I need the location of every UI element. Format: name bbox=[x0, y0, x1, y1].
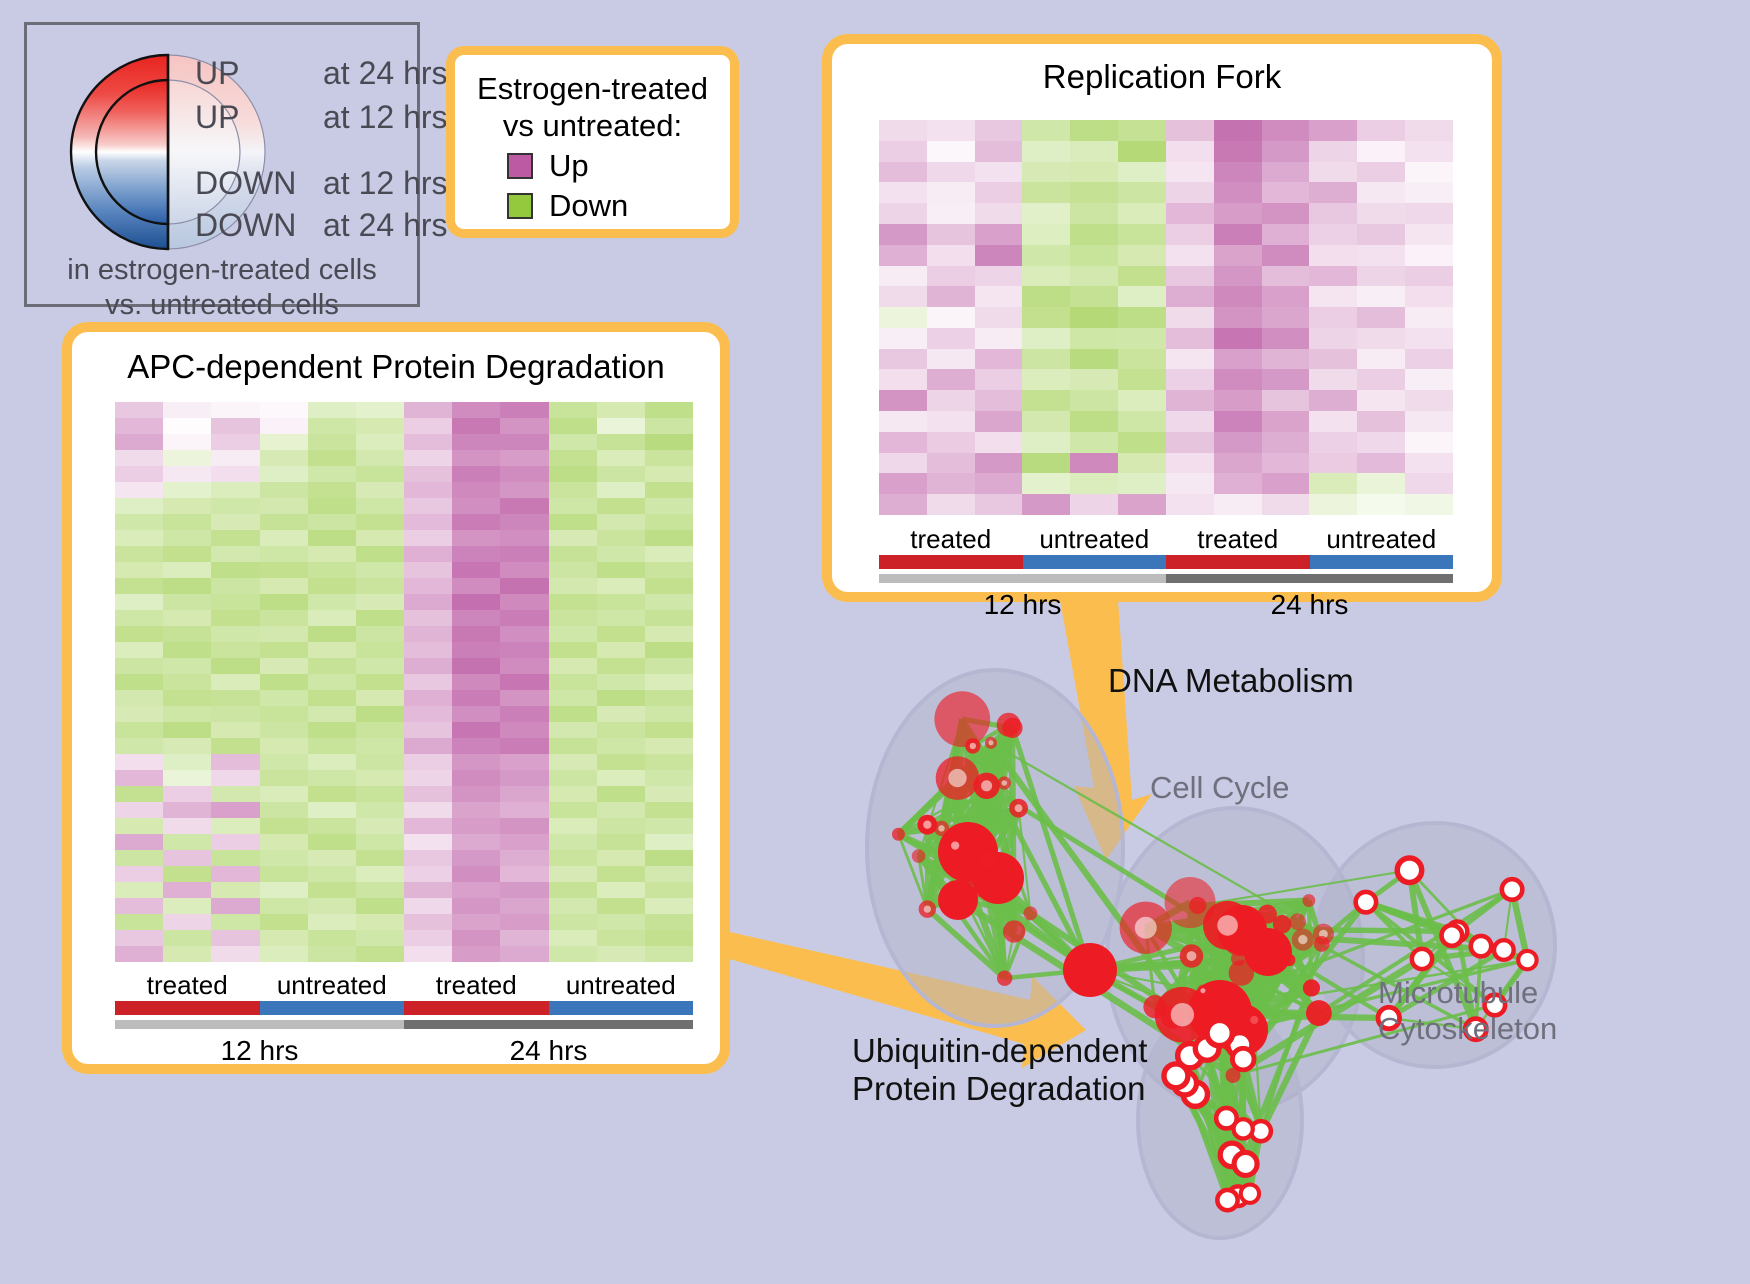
heatmap-cell bbox=[163, 450, 211, 466]
heatmap-cell bbox=[308, 498, 356, 514]
heatmap-cell bbox=[1070, 328, 1118, 349]
network-node-core bbox=[951, 841, 959, 849]
heatmap-cell bbox=[879, 349, 927, 370]
heatmap-cell bbox=[1166, 245, 1214, 266]
heatmap-cell bbox=[260, 610, 308, 626]
heatmap-cell bbox=[115, 658, 163, 674]
heatmap-cell bbox=[260, 930, 308, 946]
network-node bbox=[1314, 936, 1330, 952]
heatmap-cell bbox=[308, 418, 356, 434]
heatmap-cell bbox=[356, 482, 404, 498]
heatmap-cell bbox=[404, 626, 452, 642]
heatmap-cell bbox=[500, 690, 548, 706]
heatmap-cell bbox=[1309, 307, 1357, 328]
heatmap-cell bbox=[500, 770, 548, 786]
heatmap-cell bbox=[1070, 390, 1118, 411]
heatmap-cell bbox=[356, 914, 404, 930]
heatmap-cell bbox=[115, 802, 163, 818]
heatmap-cell bbox=[1357, 182, 1405, 203]
heatmap-cell bbox=[260, 498, 308, 514]
treatment-color-bar bbox=[879, 555, 1453, 569]
heatmap-cell bbox=[927, 307, 975, 328]
heatmap-cell bbox=[452, 898, 500, 914]
heatmap-cell bbox=[1357, 390, 1405, 411]
heatmap-cell bbox=[1405, 390, 1453, 411]
heatmap-cell bbox=[260, 690, 308, 706]
heatmap-cell bbox=[597, 418, 645, 434]
heatmap-cell bbox=[115, 578, 163, 594]
heatmap-cell bbox=[211, 674, 259, 690]
heatmap-cell bbox=[115, 770, 163, 786]
heatmap-cell bbox=[975, 494, 1023, 515]
heatmap-cell bbox=[645, 914, 693, 930]
heatmap-cell bbox=[308, 690, 356, 706]
heatmap-cell bbox=[879, 411, 927, 432]
heatmap-cell bbox=[645, 546, 693, 562]
heatmap-cell bbox=[549, 738, 597, 754]
heatmap-cell bbox=[115, 930, 163, 946]
heatmap-cell bbox=[927, 453, 975, 474]
heatmap-cell bbox=[879, 369, 927, 390]
heatmap-cell bbox=[1022, 182, 1070, 203]
network-node-core bbox=[1239, 1125, 1247, 1133]
heatmap-cell bbox=[975, 141, 1023, 162]
heatmap-cell bbox=[404, 434, 452, 450]
heatmap-cell bbox=[1262, 411, 1310, 432]
heatmap-cell bbox=[452, 450, 500, 466]
heatmap-cell bbox=[500, 914, 548, 930]
heatmap-cell bbox=[356, 754, 404, 770]
heatmap-cell bbox=[1405, 473, 1453, 494]
treatment-label: untreated bbox=[1310, 524, 1454, 555]
heatmap-cell bbox=[549, 626, 597, 642]
time-bar-segment bbox=[115, 1020, 404, 1029]
heatmap-cell bbox=[308, 770, 356, 786]
heatmap-cell bbox=[452, 498, 500, 514]
heatmap-cell bbox=[308, 786, 356, 802]
heatmap-cell bbox=[163, 658, 211, 674]
heatmap-cell bbox=[260, 402, 308, 418]
treatment-label: treated bbox=[1166, 524, 1310, 555]
heatmap-cell bbox=[1118, 390, 1166, 411]
heatmap-cell bbox=[1262, 141, 1310, 162]
heatmap-cell bbox=[879, 473, 927, 494]
heatmap-cell bbox=[500, 530, 548, 546]
heatmap-cell bbox=[260, 834, 308, 850]
heatmap-cell bbox=[549, 818, 597, 834]
heatmap-cell bbox=[500, 882, 548, 898]
heatmap-cell bbox=[1118, 286, 1166, 307]
heatmap-cell bbox=[645, 434, 693, 450]
heatmap-cell bbox=[1118, 494, 1166, 515]
heatmap-cell bbox=[597, 930, 645, 946]
heatmap-cell bbox=[1214, 203, 1262, 224]
heatmap-cell bbox=[500, 898, 548, 914]
heatmap-cell bbox=[163, 930, 211, 946]
heatmap-cell bbox=[1309, 141, 1357, 162]
heatmap-cell bbox=[927, 120, 975, 141]
heatmap-cell bbox=[500, 466, 548, 482]
heatmap-cell bbox=[356, 850, 404, 866]
heatmap-cell bbox=[260, 642, 308, 658]
heatmap-cell bbox=[549, 930, 597, 946]
network-node-core bbox=[948, 769, 966, 787]
network-node-core bbox=[1171, 1003, 1194, 1026]
heatmap-cell bbox=[211, 610, 259, 626]
network-node-core bbox=[1418, 955, 1426, 963]
heatmap-cell bbox=[260, 482, 308, 498]
heatmap-cell bbox=[452, 434, 500, 450]
heatmap-cell bbox=[1022, 453, 1070, 474]
heatmap-cell bbox=[927, 411, 975, 432]
heatmap-cell bbox=[308, 450, 356, 466]
heatmap-cell bbox=[1118, 349, 1166, 370]
heatmap-cell bbox=[308, 930, 356, 946]
heatmap-cell bbox=[1214, 286, 1262, 307]
heatmap-cell bbox=[597, 466, 645, 482]
heatmap-cell bbox=[404, 818, 452, 834]
heatmap-cell bbox=[1118, 432, 1166, 453]
heatmap-cell bbox=[1118, 141, 1166, 162]
panel-replication-fork: Replication Fork treated untreated treat… bbox=[822, 34, 1502, 602]
heatmap-cell bbox=[115, 738, 163, 754]
heatmap-cell bbox=[1357, 203, 1405, 224]
treatment-label: treated bbox=[115, 970, 260, 1001]
heatmap-cell bbox=[115, 434, 163, 450]
heatmap-cell bbox=[308, 434, 356, 450]
heatmap-cell bbox=[404, 722, 452, 738]
heatmap-cell bbox=[211, 818, 259, 834]
heatmap-cell bbox=[356, 898, 404, 914]
heatmap-cell bbox=[260, 738, 308, 754]
heatmap-cell bbox=[404, 946, 452, 962]
heatmap-cell bbox=[404, 546, 452, 562]
heatmap-cell bbox=[404, 498, 452, 514]
heatmap-cell bbox=[163, 866, 211, 882]
heatmap-cell bbox=[404, 770, 452, 786]
heatmap-cell bbox=[1262, 286, 1310, 307]
heatmap-cell bbox=[260, 626, 308, 642]
network-node-core bbox=[981, 780, 992, 791]
heatmap-cell bbox=[1309, 162, 1357, 183]
heatmap-cell bbox=[308, 914, 356, 930]
heatmap-cell bbox=[645, 562, 693, 578]
heatmap-cell bbox=[645, 738, 693, 754]
heatmap-cell bbox=[1357, 494, 1405, 515]
heatmap-cell bbox=[260, 658, 308, 674]
heatmap-cell bbox=[404, 514, 452, 530]
heatmap-cell bbox=[1070, 120, 1118, 141]
heatmap-cell bbox=[1166, 224, 1214, 245]
heatmap-cell bbox=[1022, 120, 1070, 141]
heatmap-cell bbox=[645, 882, 693, 898]
heatmap-cell bbox=[927, 266, 975, 287]
heatmap-cell bbox=[1405, 307, 1453, 328]
heatmap-cell bbox=[1309, 453, 1357, 474]
heatmap-cell bbox=[356, 610, 404, 626]
heatmap-cell bbox=[597, 578, 645, 594]
network-node-core bbox=[1222, 1114, 1230, 1122]
heatmap-cell bbox=[1405, 328, 1453, 349]
heatmap-cell bbox=[452, 722, 500, 738]
heatmap-cell bbox=[115, 690, 163, 706]
heatmap-cell bbox=[163, 626, 211, 642]
heatmap-cell bbox=[211, 898, 259, 914]
heatmap-cell bbox=[597, 562, 645, 578]
heatmap-cell bbox=[500, 626, 548, 642]
heatmap-cell bbox=[404, 482, 452, 498]
heatmap-cell bbox=[163, 946, 211, 962]
heatmap-cell bbox=[927, 182, 975, 203]
heatmap-cell bbox=[1166, 141, 1214, 162]
heatmap-cell bbox=[500, 450, 548, 466]
heatmap-cell bbox=[879, 494, 927, 515]
network-node-core bbox=[1200, 988, 1205, 993]
heatmap-cell bbox=[308, 674, 356, 690]
heatmap-cell bbox=[1070, 494, 1118, 515]
heatmap-cell bbox=[115, 514, 163, 530]
heatmap-cell bbox=[452, 706, 500, 722]
heatmap-cell bbox=[1022, 390, 1070, 411]
network-node-core bbox=[1241, 1159, 1250, 1168]
heatmap-cell bbox=[356, 402, 404, 418]
heatmap-cell bbox=[163, 610, 211, 626]
heatmap-cell bbox=[549, 850, 597, 866]
heatmap-cell bbox=[549, 562, 597, 578]
time-bar-segment bbox=[879, 574, 1166, 583]
heatmap-cell bbox=[356, 930, 404, 946]
network-node-core bbox=[1223, 1196, 1231, 1204]
treatment-label: untreated bbox=[549, 970, 694, 1001]
heatmap-cell bbox=[975, 182, 1023, 203]
heatmap-cell bbox=[308, 738, 356, 754]
heatmap-cell bbox=[260, 450, 308, 466]
heatmap-cell bbox=[308, 466, 356, 482]
heatmap-cell bbox=[500, 946, 548, 962]
heatmap-cell bbox=[1166, 120, 1214, 141]
heatmap-cell bbox=[927, 286, 975, 307]
treatment-label: treated bbox=[879, 524, 1023, 555]
heatmap-cell bbox=[645, 578, 693, 594]
heatmap-cell bbox=[356, 738, 404, 754]
heatmap-cell bbox=[163, 642, 211, 658]
heatmap-cell bbox=[260, 514, 308, 530]
heatmap-cell bbox=[1262, 328, 1310, 349]
heatmap-cell bbox=[356, 802, 404, 818]
heatmap-cell bbox=[260, 914, 308, 930]
heatmap-cell bbox=[549, 530, 597, 546]
heatmap-cell bbox=[211, 786, 259, 802]
network-node bbox=[981, 852, 996, 867]
heatmap-cell bbox=[1357, 432, 1405, 453]
heatmap-cell bbox=[211, 450, 259, 466]
heatmap-cell bbox=[211, 722, 259, 738]
heatmap-cell bbox=[1070, 411, 1118, 432]
heatmap-cell bbox=[404, 450, 452, 466]
heatmap-cell bbox=[260, 530, 308, 546]
heatmap-cell bbox=[1262, 203, 1310, 224]
heatmap-cell bbox=[452, 866, 500, 882]
heatmap-cell bbox=[115, 786, 163, 802]
heatmap-cell bbox=[597, 738, 645, 754]
heatmap-cell bbox=[1262, 473, 1310, 494]
heatmap-cell bbox=[1022, 328, 1070, 349]
heatmap-cell bbox=[1022, 162, 1070, 183]
heatmap-cell bbox=[1070, 453, 1118, 474]
heatmap-cell bbox=[1166, 390, 1214, 411]
heatmap-cell bbox=[404, 882, 452, 898]
heatmap-cell bbox=[163, 882, 211, 898]
heatmap-cell bbox=[1214, 307, 1262, 328]
heatmap-cell bbox=[356, 530, 404, 546]
heatmap-cell bbox=[452, 882, 500, 898]
heatmap-cell bbox=[549, 546, 597, 562]
heatmap-cell bbox=[1118, 182, 1166, 203]
heatmap-cell bbox=[452, 610, 500, 626]
heatmap-cell bbox=[927, 349, 975, 370]
heatmap-cell bbox=[260, 674, 308, 690]
heatmap-cell bbox=[597, 690, 645, 706]
heatmap-cell bbox=[163, 546, 211, 562]
heatmap-cell bbox=[115, 530, 163, 546]
heatmap-cell bbox=[163, 578, 211, 594]
heatmap-cell bbox=[1166, 432, 1214, 453]
pathway-network-diagram: DNA Metabolism Cell Cycle Microtubule Cy… bbox=[790, 600, 1750, 1279]
heatmap-cell bbox=[1309, 494, 1357, 515]
heatmap-cell bbox=[452, 834, 500, 850]
heatmap-cell bbox=[500, 866, 548, 882]
heatmap-cell bbox=[1357, 224, 1405, 245]
network-node-core bbox=[1171, 1071, 1181, 1081]
heatmap-cell bbox=[975, 390, 1023, 411]
time-label: 24 hrs bbox=[404, 1035, 693, 1067]
heatmap-cell bbox=[163, 818, 211, 834]
heatmap-cell bbox=[1166, 286, 1214, 307]
heatmap-cell bbox=[1405, 453, 1453, 474]
heatmap-cell bbox=[404, 898, 452, 914]
heatmap-cell bbox=[500, 850, 548, 866]
heatmap-cell bbox=[879, 224, 927, 245]
heatmap-cell bbox=[356, 882, 404, 898]
heatmap-cell bbox=[1070, 349, 1118, 370]
heatmap-cell bbox=[645, 754, 693, 770]
heatmap-cell bbox=[308, 610, 356, 626]
heatmap-cell bbox=[211, 770, 259, 786]
heatmap-cell bbox=[549, 706, 597, 722]
network-node bbox=[892, 828, 905, 841]
heatmap-cell bbox=[500, 546, 548, 562]
heatmap-cell bbox=[927, 328, 975, 349]
heatmap-cell bbox=[1405, 182, 1453, 203]
network-node-core bbox=[1187, 951, 1197, 961]
heatmap-cell bbox=[452, 482, 500, 498]
heatmap-cell bbox=[163, 802, 211, 818]
network-node-core bbox=[1246, 1190, 1253, 1197]
heatmap-cell bbox=[1357, 369, 1405, 390]
heatmap-cell bbox=[1357, 286, 1405, 307]
heatmap-cell bbox=[163, 898, 211, 914]
heatmap-cell bbox=[597, 834, 645, 850]
heatmap-cell bbox=[549, 898, 597, 914]
heatmap-cell bbox=[1309, 390, 1357, 411]
heatmap-cell bbox=[1309, 286, 1357, 307]
network-node bbox=[1002, 718, 1022, 738]
heatmap-cell bbox=[1166, 473, 1214, 494]
heatmap-cell bbox=[879, 266, 927, 287]
figure-canvas: UPat 24 hrs UPat 12 hrs DOWNat 12 hrs DO… bbox=[0, 0, 1750, 1279]
time-bar-segment bbox=[1166, 574, 1453, 583]
network-node bbox=[1189, 897, 1206, 914]
heatmap-cell bbox=[645, 834, 693, 850]
heatmap-cell bbox=[211, 418, 259, 434]
heatmap-cell bbox=[1309, 328, 1357, 349]
heatmap-cell bbox=[645, 850, 693, 866]
heatmap-cell bbox=[452, 818, 500, 834]
heatmap-cell bbox=[645, 898, 693, 914]
heatmap-cell bbox=[1214, 141, 1262, 162]
heatmap-cell bbox=[1262, 245, 1310, 266]
heatmap-cell bbox=[1405, 432, 1453, 453]
heatmap-cell bbox=[115, 594, 163, 610]
heatmap-cell bbox=[879, 432, 927, 453]
heatmap-cell bbox=[1022, 432, 1070, 453]
heatmap-cell bbox=[597, 626, 645, 642]
heatmap-cell bbox=[597, 642, 645, 658]
heatmap-cell bbox=[1118, 266, 1166, 287]
treatment-labels: treated untreated treated untreated bbox=[879, 524, 1453, 555]
network-node bbox=[1023, 906, 1037, 920]
heatmap-cell bbox=[260, 850, 308, 866]
heatmap-cell bbox=[260, 818, 308, 834]
heatmap-cell bbox=[260, 546, 308, 562]
heatmap-cell bbox=[1405, 411, 1453, 432]
heatmap-cell bbox=[1214, 494, 1262, 515]
network-node bbox=[1306, 1000, 1332, 1026]
heatmap-cell bbox=[163, 482, 211, 498]
heatmap-cell bbox=[549, 834, 597, 850]
heatmap-cell bbox=[1309, 411, 1357, 432]
heatmap-cell bbox=[597, 850, 645, 866]
heatmap-cell bbox=[879, 141, 927, 162]
heatmap-cell bbox=[211, 498, 259, 514]
heatmap-cell bbox=[260, 898, 308, 914]
heatmap-cell bbox=[597, 434, 645, 450]
heatmap-cell bbox=[1262, 369, 1310, 390]
heatmap-cell bbox=[452, 546, 500, 562]
heatmap-cell bbox=[115, 754, 163, 770]
heatmap-cell bbox=[597, 482, 645, 498]
treatment-label: untreated bbox=[1023, 524, 1167, 555]
heatmap-cell bbox=[645, 594, 693, 610]
heatmap-cell bbox=[308, 866, 356, 882]
treatment-label: treated bbox=[404, 970, 549, 1001]
heatmap-cell bbox=[975, 266, 1023, 287]
heatmap-cell bbox=[500, 706, 548, 722]
heatmap-cell bbox=[597, 674, 645, 690]
heatmap-cell bbox=[1357, 411, 1405, 432]
heatmap-cell bbox=[1262, 120, 1310, 141]
heatmap-cell bbox=[452, 514, 500, 530]
heatmap-cell bbox=[1214, 266, 1262, 287]
panel-title-apc: APC-dependent Protein Degradation bbox=[72, 332, 720, 386]
heatmap-cell bbox=[115, 946, 163, 962]
treatment-labels: treated untreated treated untreated bbox=[115, 970, 693, 1001]
heatmap-cell bbox=[404, 706, 452, 722]
heatmap-cell bbox=[549, 786, 597, 802]
heatmap-cell bbox=[597, 402, 645, 418]
heatmap-cell bbox=[549, 514, 597, 530]
heatmap-cell bbox=[597, 594, 645, 610]
